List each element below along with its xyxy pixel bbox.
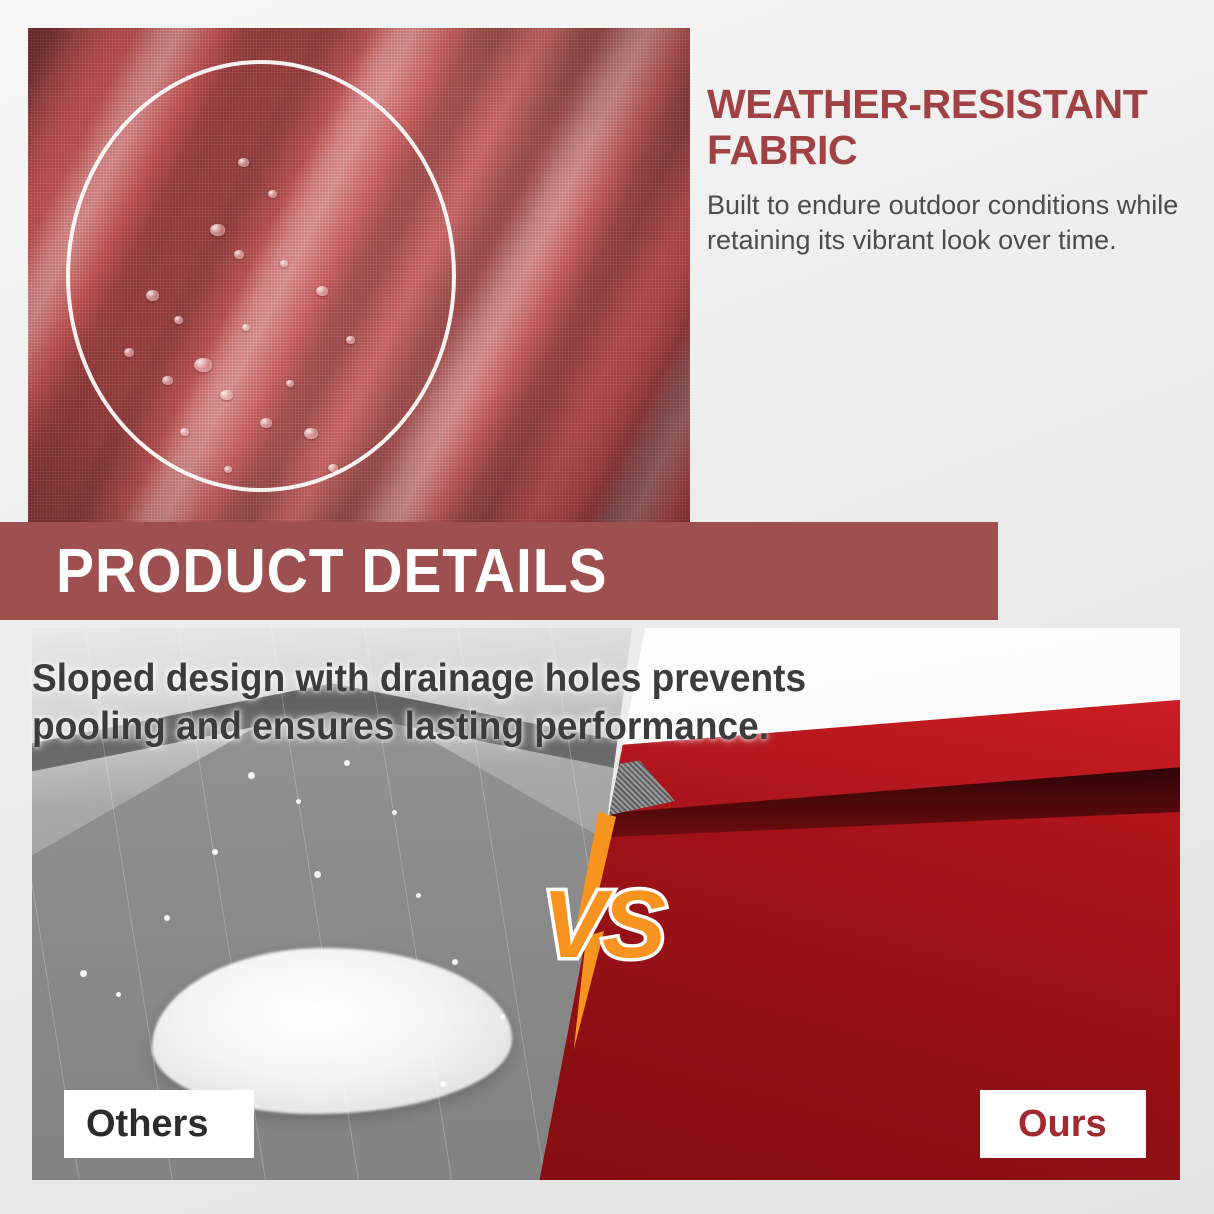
splash-dot [440, 1081, 446, 1087]
product-details-banner: PRODUCT DETAILS [0, 522, 998, 620]
splash-dot [314, 871, 321, 878]
feature-headline: WEATHER-RESISTANT FABRIC [707, 82, 1207, 174]
splash-dot [164, 915, 170, 921]
splash-dot [212, 849, 218, 855]
splash-dot [416, 893, 421, 898]
others-label: Others [64, 1090, 254, 1158]
fabric-closeup-photo [28, 28, 690, 528]
splash-dot [248, 772, 255, 779]
feature-text-block: WEATHER-RESISTANT FABRIC Built to endure… [707, 82, 1207, 258]
magnifier-circle-outline [66, 60, 456, 492]
product-detail-page: WEATHER-RESISTANT FABRIC Built to endure… [0, 0, 1214, 1214]
comparison-caption: Sloped design with drainage holes preven… [32, 655, 916, 751]
feature-description: Built to endure outdoor conditions while… [707, 188, 1207, 258]
banner-title: PRODUCT DETAILS [56, 536, 607, 607]
ours-label: Ours [980, 1090, 1146, 1158]
